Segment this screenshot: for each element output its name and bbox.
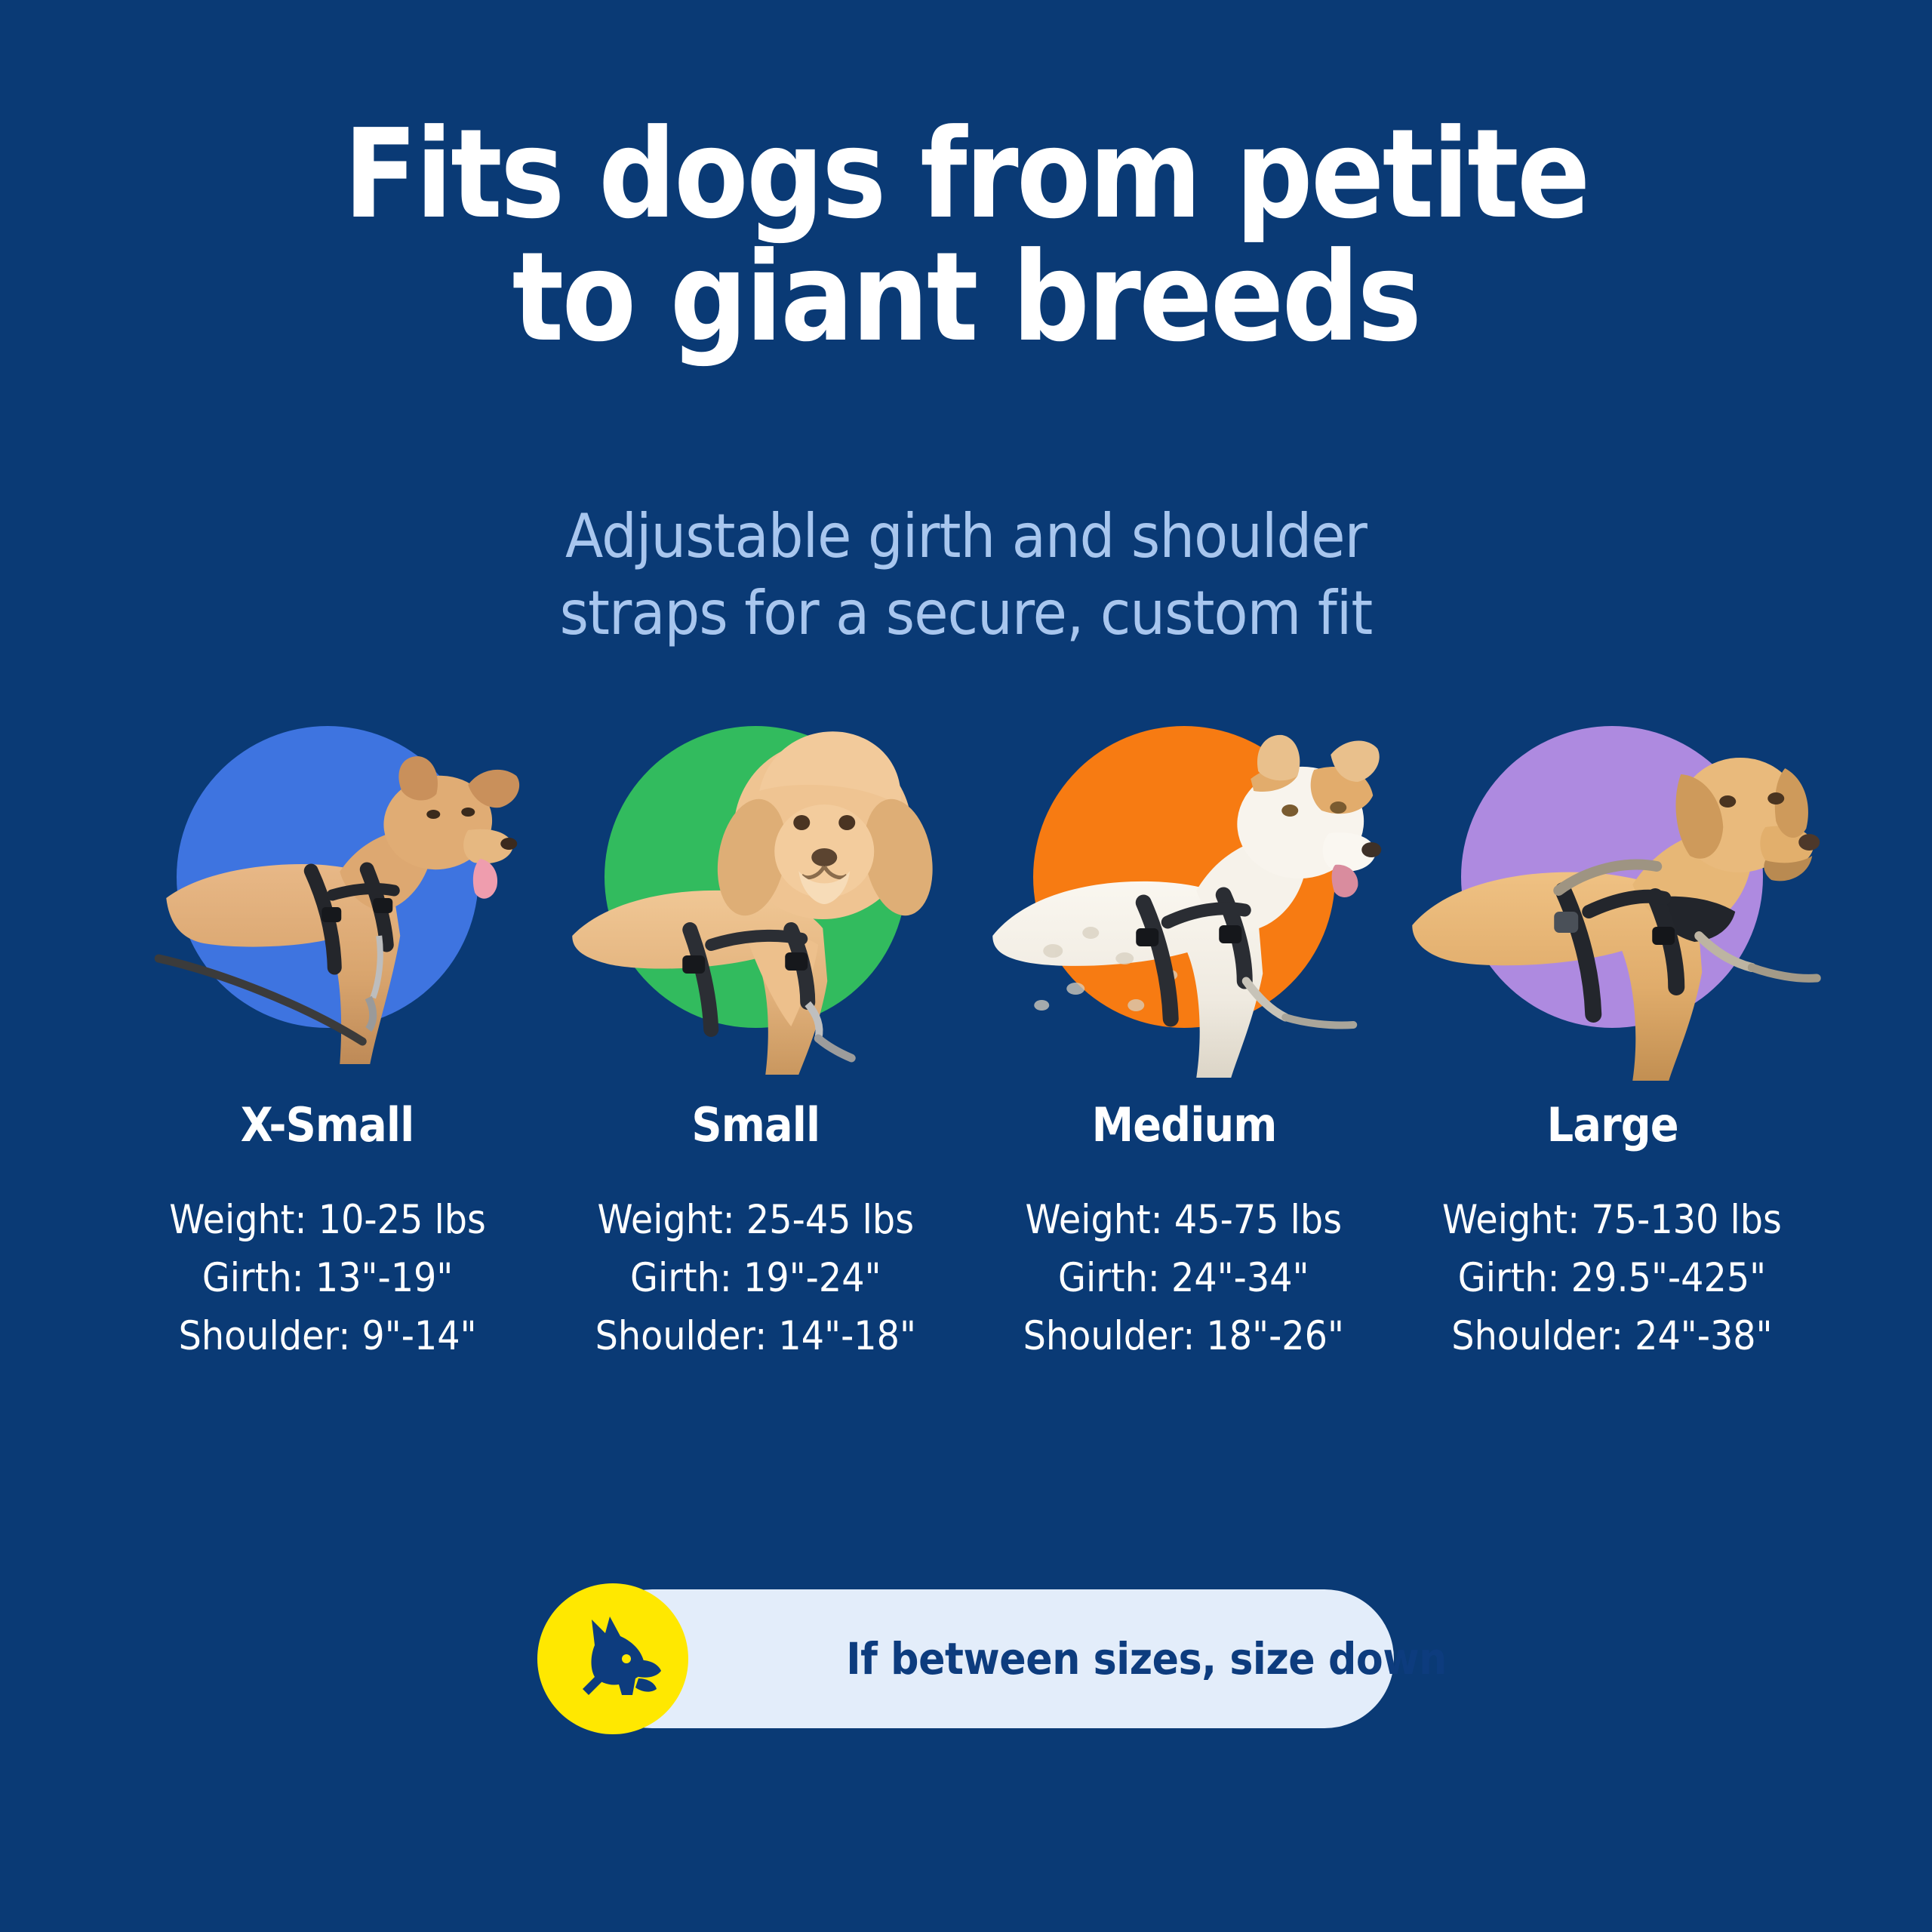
size-chart: X-Small Weight: 10-25 lbs Girth: 13"-19"… [113, 709, 1826, 1366]
size-specs: Weight: 10-25 lbs Girth: 13"-19" Shoulde… [169, 1192, 486, 1366]
size-photo-medium [970, 709, 1398, 1087]
spec-weight: Weight: 10-25 lbs [169, 1192, 486, 1250]
color-disc-small [605, 726, 906, 1028]
size-column-large: Large Weight: 75-130 lbs Girth: 29.5"-42… [1398, 709, 1827, 1366]
size-specs: Weight: 25-45 lbs Girth: 19"-24" Shoulde… [595, 1192, 916, 1366]
spec-weight: Weight: 25-45 lbs [595, 1192, 916, 1250]
dog-head-icon [537, 1583, 688, 1734]
size-column-small: Small Weight: 25-45 lbs Girth: 19"-24" S… [542, 709, 971, 1366]
color-disc-large [1461, 726, 1763, 1028]
subtitle-line-2: straps for a secure, custom fit [77, 575, 1854, 652]
size-photo-small [542, 709, 971, 1087]
size-label: Small [691, 1097, 820, 1152]
spec-shoulder: Shoulder: 14"-18" [595, 1308, 916, 1366]
size-column-medium: Medium Weight: 45-75 lbs Girth: 24"-34" … [970, 709, 1398, 1366]
infographic-poster: Fits dogs from petite to giant breeds Ad… [0, 0, 1932, 1932]
size-photo-x-small [113, 709, 542, 1087]
color-disc-medium [1033, 726, 1335, 1028]
size-specs: Weight: 45-75 lbs Girth: 24"-34" Shoulde… [1023, 1192, 1344, 1366]
size-label: X-Small [241, 1097, 414, 1152]
spec-girth: Girth: 24"-34" [1023, 1250, 1344, 1308]
spec-shoulder: Shoulder: 9"-14" [169, 1308, 486, 1366]
size-specs: Weight: 75-130 lbs Girth: 29.5"-425" Sho… [1442, 1192, 1782, 1366]
spec-girth: Girth: 19"-24" [595, 1250, 916, 1308]
page-title: Fits dogs from petite to giant breeds [116, 113, 1817, 359]
headline-line-2: to giant breeds [116, 236, 1817, 359]
spec-girth: Girth: 13"-19" [169, 1250, 486, 1308]
spec-girth: Girth: 29.5"-425" [1442, 1250, 1782, 1308]
subtitle-line-1: Adjustable girth and shoulder [77, 498, 1854, 575]
spec-shoulder: Shoulder: 24"-38" [1442, 1308, 1782, 1366]
headline-line-1: Fits dogs from petite [116, 113, 1817, 236]
color-disc-x-small [177, 726, 478, 1028]
page-subtitle: Adjustable girth and shoulder straps for… [77, 498, 1854, 653]
size-label: Medium [1091, 1097, 1276, 1152]
spec-shoulder: Shoulder: 18"-26" [1023, 1308, 1344, 1366]
size-photo-large [1398, 709, 1827, 1087]
size-down-badge: If between sizes, size down [537, 1583, 1480, 1734]
spec-weight: Weight: 45-75 lbs [1023, 1192, 1344, 1250]
badge-label: If between sizes, size down [846, 1633, 1447, 1684]
size-label: Large [1546, 1097, 1678, 1152]
dog-head-glyph [560, 1606, 666, 1712]
spec-weight: Weight: 75-130 lbs [1442, 1192, 1782, 1250]
size-column-x-small: X-Small Weight: 10-25 lbs Girth: 13"-19"… [113, 709, 542, 1366]
